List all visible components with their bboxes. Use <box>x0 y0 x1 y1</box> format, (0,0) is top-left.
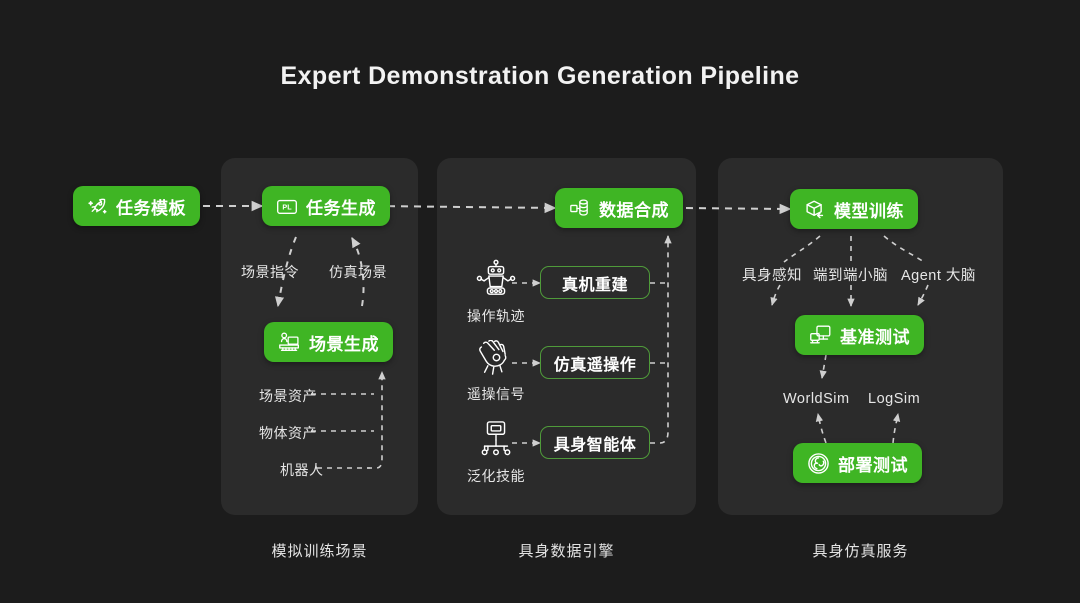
panel-caption-middle: 具身数据引擎 <box>437 540 696 561</box>
edge-label-logsim: LogSim <box>868 391 920 407</box>
box-embodied-agent[interactable]: 具身智能体 <box>540 426 650 459</box>
node-label: 场景生成 <box>309 330 379 355</box>
panel-caption-left: 模拟训练场景 <box>221 540 418 561</box>
rocket-icon <box>87 196 108 217</box>
node-label: 基准测试 <box>840 323 910 348</box>
box-label: 具身智能体 <box>554 431 637 455</box>
node-label: 模型训练 <box>834 197 904 222</box>
box-sim-teleoperation[interactable]: 仿真遥操作 <box>540 346 650 379</box>
cube-arrow-icon <box>804 199 826 220</box>
box-real-machine-reconstruction[interactable]: 真机重建 <box>540 266 650 299</box>
node-label: 部署测试 <box>838 451 908 476</box>
node-label: 数据合成 <box>599 196 669 221</box>
svg-text:PL: PL <box>282 202 292 211</box>
middle-icon-node: 操作轨迹 <box>466 258 526 326</box>
page-title: Expert Demonstration Generation Pipeline <box>0 62 1080 91</box>
node-data-synthesis[interactable]: 数据合成 <box>555 188 683 228</box>
node-task-template[interactable]: 任务模板 <box>73 186 200 226</box>
node-label: 任务模板 <box>116 194 186 219</box>
data-merge-icon <box>569 198 591 219</box>
box-label: 真机重建 <box>562 271 628 295</box>
edge-label-worldsim: WorldSim <box>783 391 850 407</box>
edge-label-robot: 机器人 <box>280 460 324 480</box>
edge-label-scene-instruction: 场景指令 <box>241 262 299 282</box>
middle-icon-caption: 泛化技能 <box>466 466 526 486</box>
edge-label-sim-scene: 仿真场景 <box>329 262 387 282</box>
edge-label-agent-brain: Agent 大脑 <box>901 264 976 285</box>
node-deploy-test[interactable]: 部署测试 <box>793 443 922 483</box>
middle-icon-caption: 操作轨迹 <box>466 306 526 326</box>
panel-caption-right: 具身仿真服务 <box>718 540 1003 561</box>
box-label: 仿真遥操作 <box>554 351 637 375</box>
diagram-canvas: Expert Demonstration Generation Pipeline <box>0 0 1080 603</box>
node-scene-generate[interactable]: 场景生成 <box>264 322 393 362</box>
edge-label-scene-asset: 场景资产 <box>259 386 317 406</box>
agent-icon <box>476 445 516 462</box>
edge-label-end-to-end-cerebellum: 端到端小脑 <box>813 264 888 285</box>
middle-icon-node: 泛化技能 <box>466 420 526 486</box>
edge-label-embodied-perception: 具身感知 <box>742 264 802 285</box>
node-task-generate[interactable]: PL 任务生成 <box>262 186 390 226</box>
glove-icon <box>476 363 516 380</box>
node-model-training[interactable]: 模型训练 <box>790 189 918 229</box>
edge-label-object-asset: 物体资产 <box>259 423 317 443</box>
scene-robot-icon <box>278 331 301 353</box>
middle-icon-caption: 遥操信号 <box>466 384 526 404</box>
middle-icon-node: 遥操信号 <box>466 340 526 404</box>
robot-icon <box>475 285 517 302</box>
node-label: 任务生成 <box>306 194 376 219</box>
prompt-icon: PL <box>276 196 298 217</box>
swirl-circle-icon <box>807 452 830 475</box>
node-benchmark-test[interactable]: 基准测试 <box>795 315 924 355</box>
monitor-bench-icon <box>809 324 832 346</box>
